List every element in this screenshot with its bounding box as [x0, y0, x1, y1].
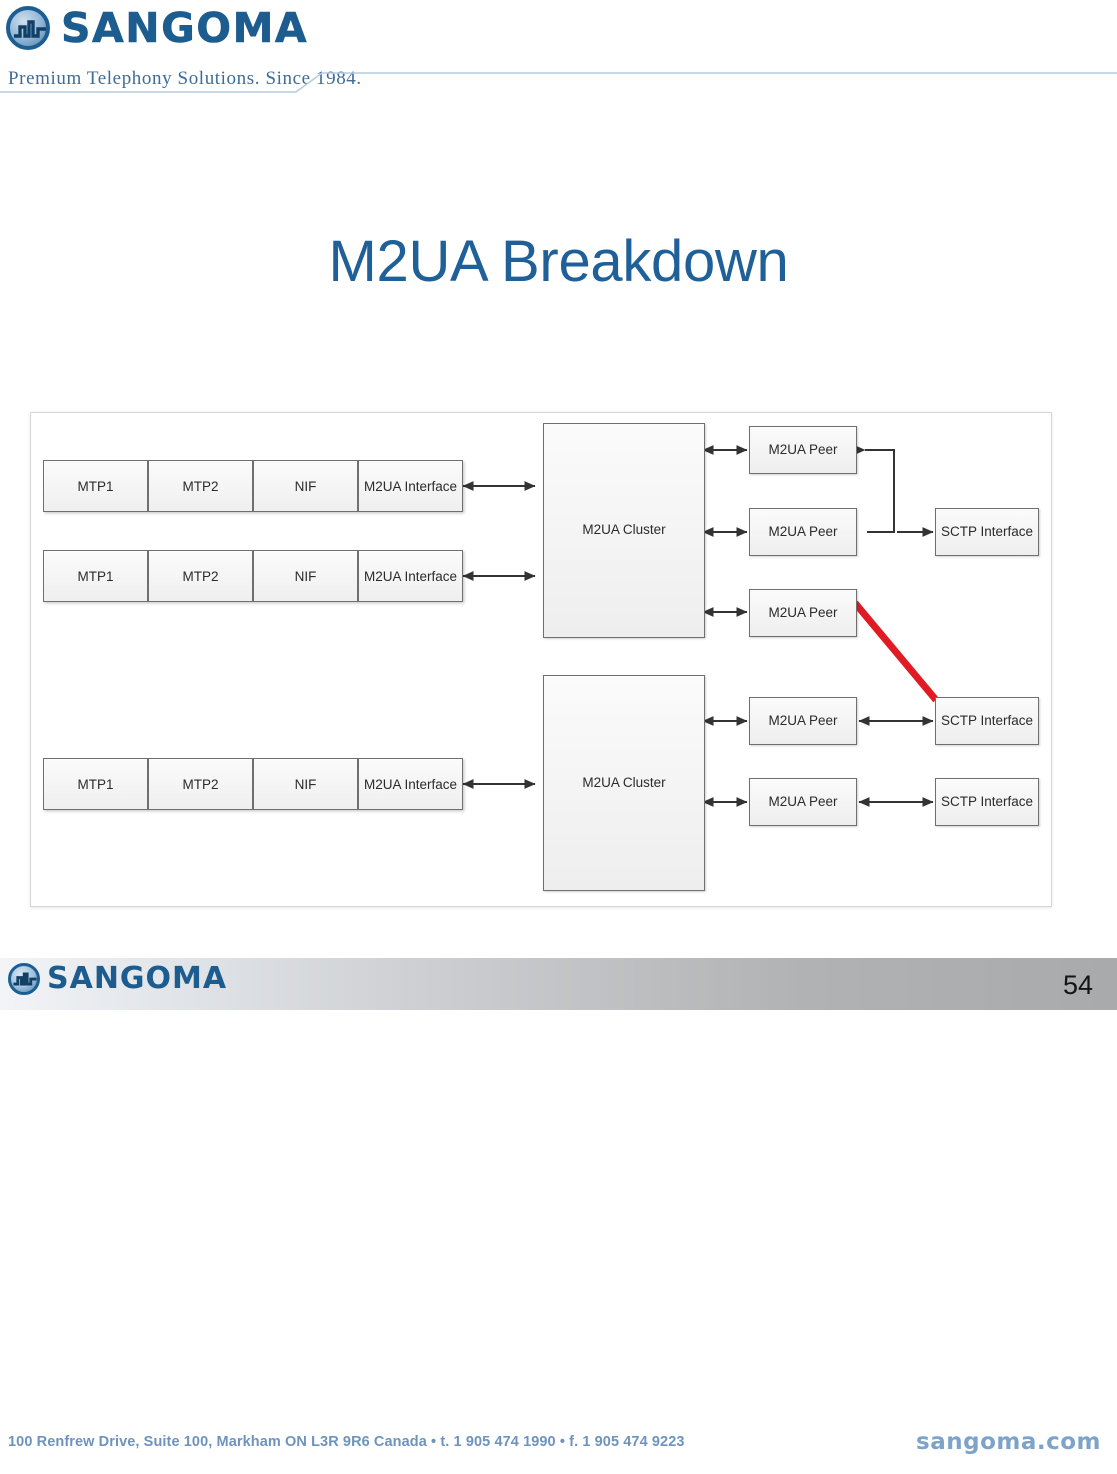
protocol-stack-1: MTP1 MTP2 NIF M2UA Interface: [43, 460, 463, 512]
stack3-segment-mtp1: MTP1: [43, 758, 148, 810]
stack1-segment-nif: NIF: [253, 460, 358, 512]
stack1-segment-mtp2: MTP2: [148, 460, 253, 512]
sangoma-waveform-icon: [6, 6, 50, 50]
slide-page: SANGOMA Premium Telephony Solutions. Sin…: [0, 0, 1117, 1474]
page-header: SANGOMA Premium Telephony Solutions. Sin…: [0, 0, 1117, 105]
footer-logo: SANGOMA: [8, 963, 227, 995]
m2ua-peer-1: M2UA Peer: [749, 426, 857, 474]
m2ua-peer-2: M2UA Peer: [749, 508, 857, 556]
footer-website[interactable]: sangoma.com: [916, 1429, 1101, 1455]
stack3-segment-m2ua-interface: M2UA Interface: [358, 758, 463, 810]
stack3-segment-nif: NIF: [253, 758, 358, 810]
protocol-stack-3: MTP1 MTP2 NIF M2UA Interface: [43, 758, 463, 810]
m2ua-peer-3: M2UA Peer: [749, 589, 857, 637]
stack2-segment-m2ua-interface: M2UA Interface: [358, 550, 463, 602]
stack1-segment-m2ua-interface: M2UA Interface: [358, 460, 463, 512]
sctp-interface-3: SCTP Interface: [935, 778, 1039, 826]
sangoma-waveform-icon-small: [8, 963, 40, 995]
stack2-segment-mtp2: MTP2: [148, 550, 253, 602]
header-brand-text: SANGOMA: [61, 6, 308, 50]
header-logo: SANGOMA: [6, 6, 308, 50]
m2ua-cluster-2: M2UA Cluster: [543, 675, 705, 891]
header-tagline: Premium Telephony Solutions. Since 1984.: [8, 68, 362, 90]
sctp-interface-2: SCTP Interface: [935, 697, 1039, 745]
red-failure-link: [855, 603, 936, 700]
m2ua-cluster-1: M2UA Cluster: [543, 423, 705, 638]
page-title: M2UA Breakdown: [0, 228, 1117, 295]
protocol-stack-2: MTP1 MTP2 NIF M2UA Interface: [43, 550, 463, 602]
footer-address: 100 Renfrew Drive, Suite 100, Markham ON…: [8, 1434, 685, 1450]
sctp-interface-1: SCTP Interface: [935, 508, 1039, 556]
footer-brand-text: SANGOMA: [47, 963, 227, 995]
slide-footer-bar: SANGOMA 54: [0, 958, 1117, 1010]
m2ua-peer-4: M2UA Peer: [749, 697, 857, 745]
m2ua-peer-5: M2UA Peer: [749, 778, 857, 826]
page-number: 54: [1063, 970, 1093, 1001]
stack3-segment-mtp2: MTP2: [148, 758, 253, 810]
m2ua-breakdown-diagram: MTP1 MTP2 NIF M2UA Interface MTP1 MTP2 N…: [30, 412, 1052, 907]
stack2-segment-nif: NIF: [253, 550, 358, 602]
stack2-segment-mtp1: MTP1: [43, 550, 148, 602]
stack1-segment-mtp1: MTP1: [43, 460, 148, 512]
